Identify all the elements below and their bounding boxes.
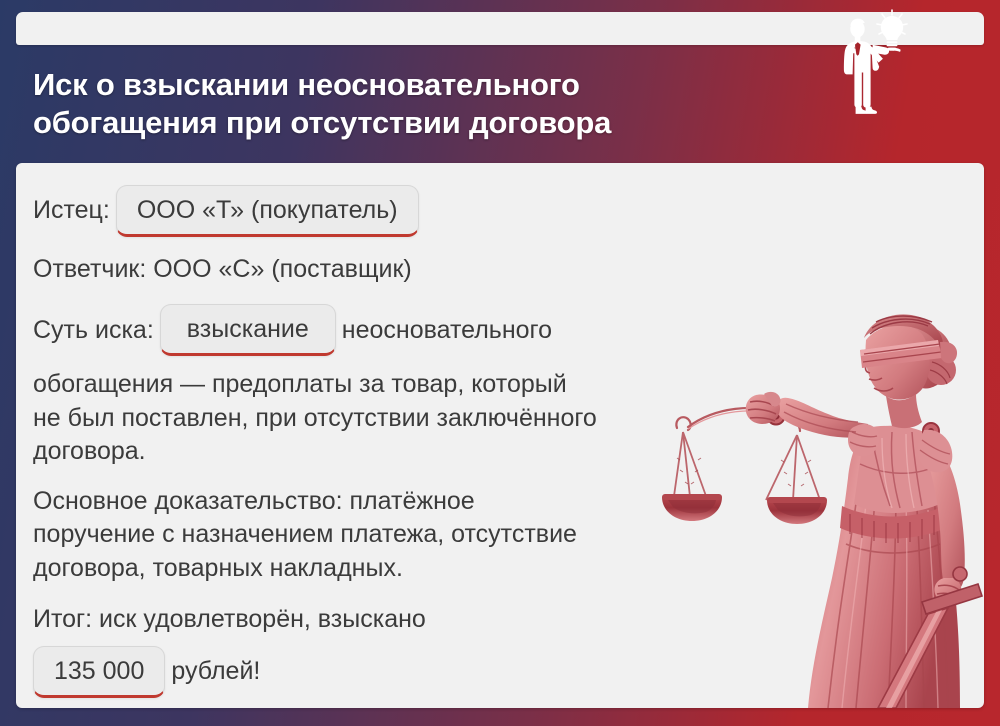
spacer <box>33 356 954 368</box>
plaintiff-row: Истец: ООО «Т» (покупатель) <box>33 185 954 237</box>
defendant-row: Ответчик: ООО «С» (поставщик) <box>33 253 954 286</box>
claim-tail: неосновательного <box>342 314 552 347</box>
spacer <box>33 585 954 603</box>
bottom-strip <box>0 708 1000 726</box>
card-content: Истец: ООО «Т» (покупатель) Ответчик: ОО… <box>16 163 984 698</box>
spacer <box>33 636 954 646</box>
claim-row: Суть иска: взыскание неосновательного <box>33 304 954 356</box>
result-row: Итог: иск удовлетворён, взыскано <box>33 603 954 636</box>
result-label: Итог: иск удовлетворён, взыскано <box>33 603 426 636</box>
claim-paragraph: обогащения — предоплаты за товар, которы… <box>33 368 723 468</box>
spacer <box>33 468 954 485</box>
page-title: Иск о взыскании неосновательного обогаще… <box>33 66 611 142</box>
claim-badge[interactable]: взыскание <box>160 304 336 356</box>
spacer <box>33 237 954 253</box>
claim-label: Суть иска: <box>33 314 154 347</box>
amount-badge[interactable]: 135 000 <box>33 646 165 698</box>
businessman-lightbulb-icon <box>830 4 914 116</box>
amount-tail: рублей! <box>171 655 260 688</box>
plaintiff-label: Истец: <box>33 194 110 227</box>
amount-row: 135 000 рублей! <box>33 646 954 698</box>
slide-root: Иск о взыскании неосновательного обогаще… <box>0 0 1000 726</box>
plaintiff-badge[interactable]: ООО «Т» (покупатель) <box>116 185 419 237</box>
content-card: Истец: ООО «Т» (покупатель) Ответчик: ОО… <box>16 163 984 708</box>
evidence-paragraph: Основное доказательство: платёжное поруч… <box>33 485 723 585</box>
defendant-line: Ответчик: ООО «С» (поставщик) <box>33 253 412 286</box>
spacer <box>33 286 954 304</box>
